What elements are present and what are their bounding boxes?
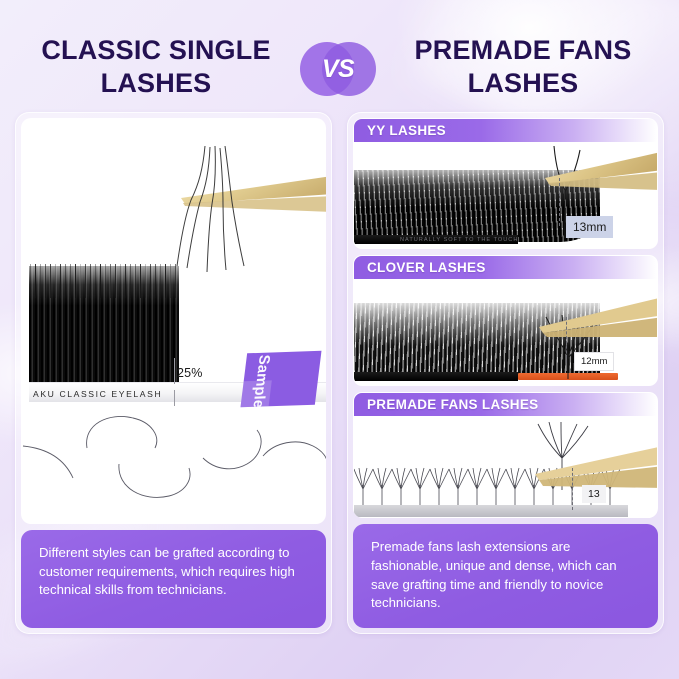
yy-lashes-title: YY LASHES bbox=[354, 123, 446, 138]
section-yy-lashes: YY LASHES NATURALLY SOFT TO THE TOUCH bbox=[353, 118, 658, 249]
yy-lashes-header: YY LASHES bbox=[354, 119, 657, 142]
clover-base-bar-orange bbox=[518, 373, 618, 380]
vs-badge: VS bbox=[300, 42, 376, 96]
premade-measure-guide bbox=[572, 468, 573, 510]
section-clover-lashes: CLOVER LASHES bbox=[353, 255, 658, 386]
premade-base-bar bbox=[354, 505, 628, 517]
classic-lashes-image: AKU CLASSIC EYELASH 25% Sample bbox=[21, 118, 326, 524]
comparison-infographic: CLASSIC SINGLE LASHES VS PREMADE FANS LA… bbox=[0, 0, 679, 679]
clover-lashes-header: CLOVER LASHES bbox=[354, 256, 657, 279]
fringe-tips bbox=[29, 264, 179, 298]
yy-measure-guide bbox=[559, 178, 560, 226]
premade-sections: YY LASHES NATURALLY SOFT TO THE TOUCH bbox=[353, 118, 658, 518]
premade-fans-header: PREMADE FANS LASHES bbox=[354, 393, 657, 416]
yy-measure-label: 13mm bbox=[566, 216, 613, 238]
premade-fans-caption: Premade fans lash extensions are fashion… bbox=[353, 524, 658, 628]
classic-lashes-caption: Different styles can be grafted accordin… bbox=[21, 530, 326, 628]
section-premade-fans-lashes: PREMADE FANS LASHES bbox=[353, 392, 658, 518]
yy-fan-fringe bbox=[354, 170, 600, 242]
classic-lash-fringe bbox=[29, 266, 179, 382]
clover-measure-label: 12mm bbox=[574, 352, 614, 371]
premade-fans-body: 13 bbox=[354, 416, 657, 518]
loose-lash-curls bbox=[21, 396, 326, 518]
clover-lashes-title: CLOVER LASHES bbox=[354, 260, 486, 275]
premade-fans-title: PREMADE FANS LASHES bbox=[354, 397, 538, 412]
clover-lashes-body: 12mm bbox=[354, 279, 657, 385]
measure-tick-top bbox=[174, 358, 175, 384]
vs-label: VS bbox=[300, 42, 376, 96]
tweezer-illustration bbox=[169, 146, 326, 276]
premade-fans-lashes-column: YY LASHES NATURALLY SOFT TO THE TOUCH bbox=[347, 112, 664, 634]
yy-strip-caption: NATURALLY SOFT TO THE TOUCH bbox=[400, 237, 518, 243]
header: CLASSIC SINGLE LASHES VS PREMADE FANS LA… bbox=[0, 0, 679, 112]
clover-base-bar-black bbox=[354, 372, 518, 381]
percent-label: 25% bbox=[177, 366, 203, 380]
right-column-title: PREMADE FANS LASHES bbox=[383, 34, 663, 101]
clover-fan-fringe bbox=[354, 303, 600, 377]
clover-measure-guide bbox=[566, 317, 567, 363]
yy-lashes-body: NATURALLY SOFT TO THE TOUCH bbox=[354, 142, 657, 248]
left-column-title: CLASSIC SINGLE LASHES bbox=[16, 34, 296, 101]
classic-single-lashes-column: AKU CLASSIC EYELASH 25% Sample Different bbox=[15, 112, 332, 634]
premade-measure-label: 13 bbox=[582, 485, 606, 503]
